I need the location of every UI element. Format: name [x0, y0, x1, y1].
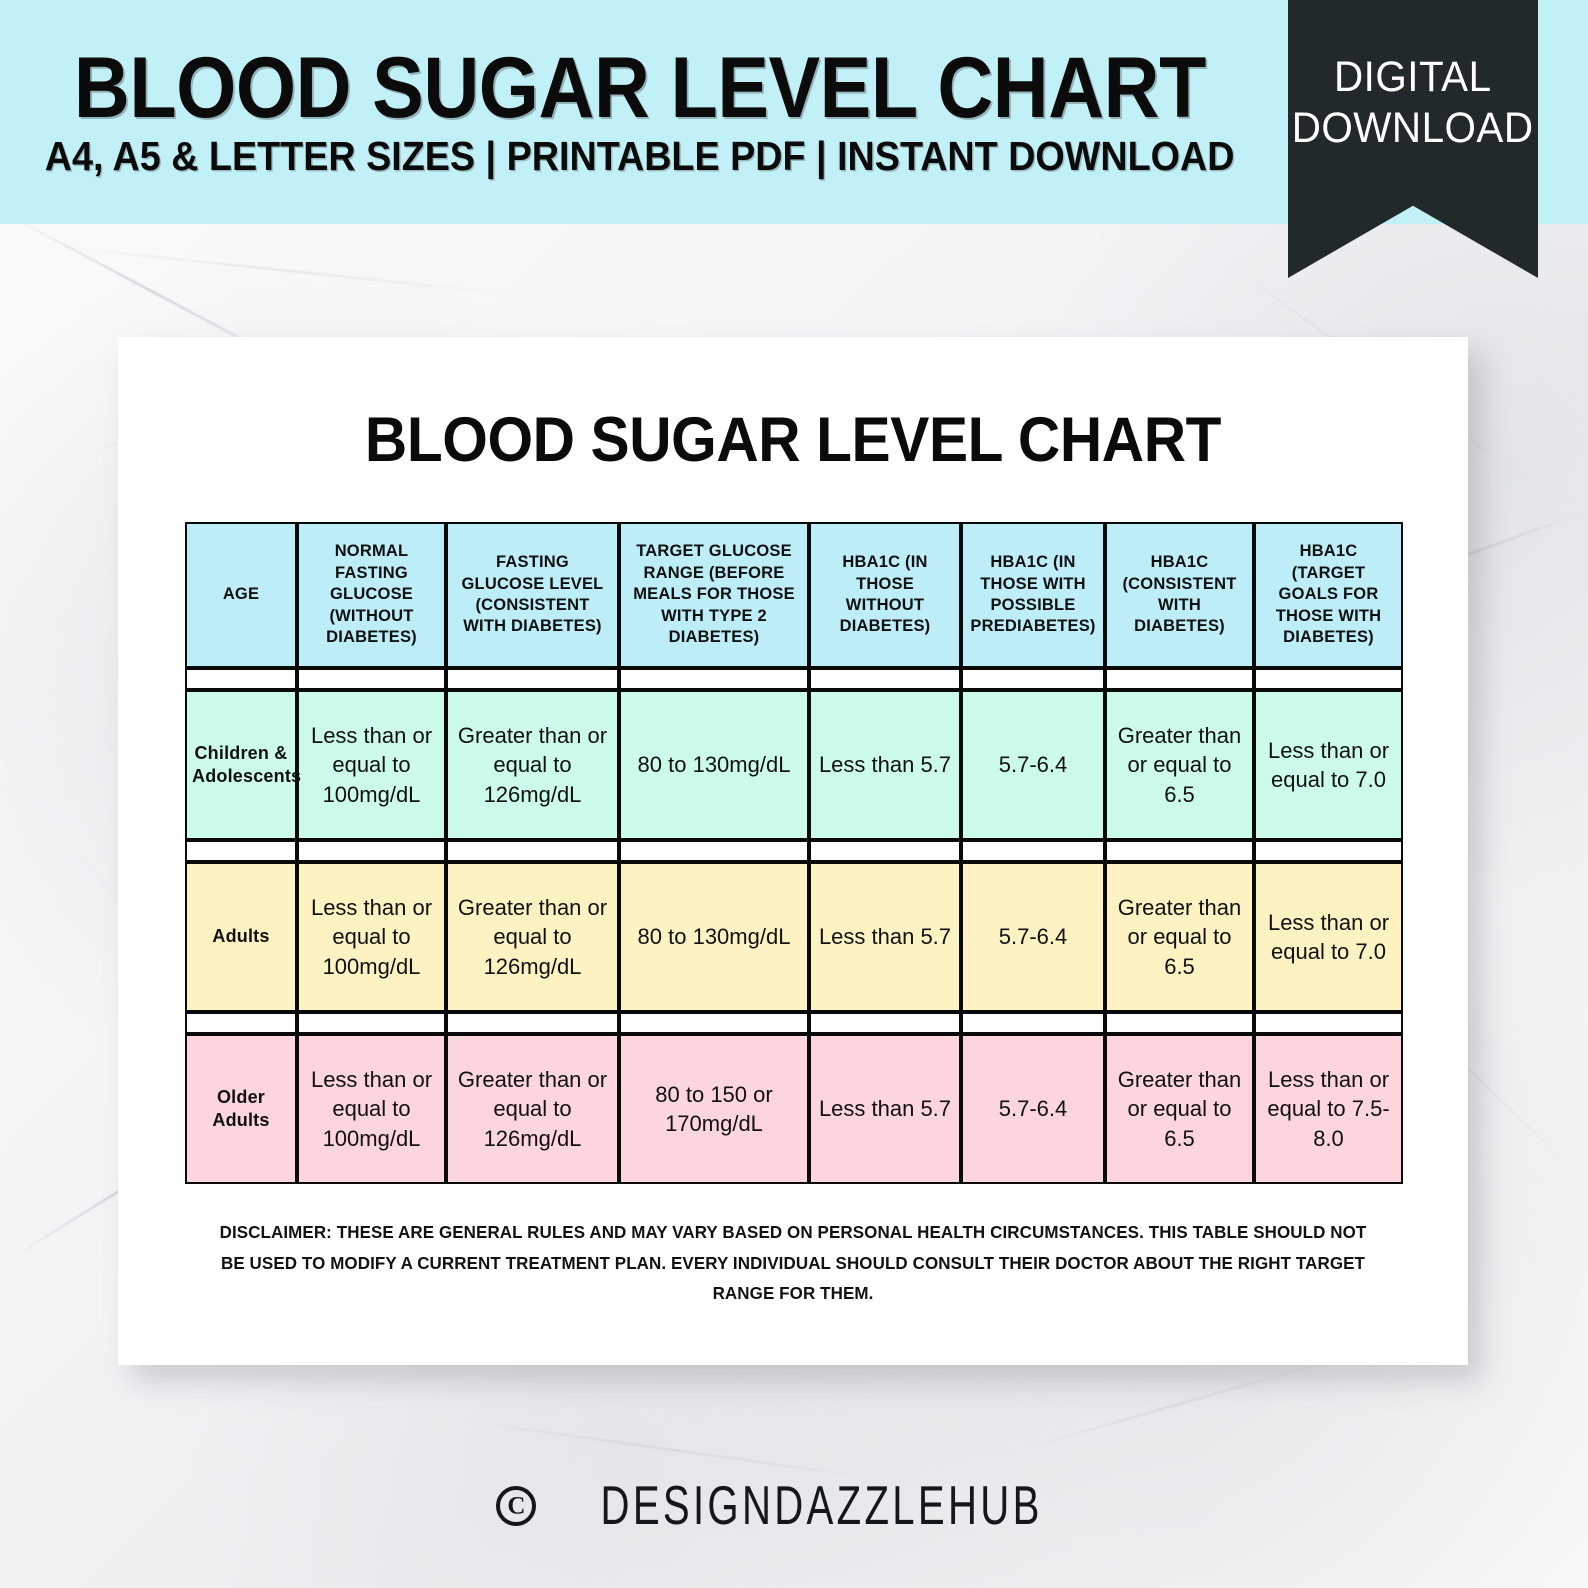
cell-hba1c-without-diabetes: Less than 5.7	[809, 862, 961, 1012]
copyright-icon	[496, 1486, 536, 1526]
spacer-cell	[185, 840, 297, 862]
col-header-hba1c-prediabetes: HBA1C (IN THOSE WITH POSSIBLE PREDIABETE…	[961, 522, 1105, 668]
spacer-cell	[1105, 840, 1254, 862]
col-header-normal-fasting-glucose: NORMAL FASTING GLUCOSE (WITHOUT DIABETES…	[297, 522, 446, 668]
col-header-target-glucose-range: TARGET GLUCOSE RANGE (BEFORE MEALS FOR T…	[619, 522, 809, 668]
spacer-cell	[961, 1012, 1105, 1034]
cell-hba1c-target-goals: Less than or equal to 7.0	[1254, 690, 1403, 840]
table-row: Adults Less than or equal to 100mg/dL Gr…	[185, 862, 1403, 1012]
spacer-cell	[1254, 668, 1403, 690]
col-header-age: AGE	[185, 522, 297, 668]
spacer-cell	[1254, 840, 1403, 862]
blood-sugar-table: AGE NORMAL FASTING GLUCOSE (WITHOUT DIAB…	[185, 522, 1403, 1184]
spacer-cell	[297, 1012, 446, 1034]
spacer-cell	[619, 1012, 809, 1034]
promo-banner-title: BLOOD SUGAR LEVEL CHART	[74, 47, 1206, 130]
spacer-cell	[961, 840, 1105, 862]
printable-preview-card: BLOOD SUGAR LEVEL CHART AGE NORMAL FASTI…	[118, 337, 1468, 1365]
spacer-cell	[446, 668, 619, 690]
cell-age: Adults	[185, 862, 297, 1012]
cell-target-glucose-range: 80 to 130mg/dL	[619, 690, 809, 840]
cell-fasting-glucose-diabetes: Greater than or equal to 126mg/dL	[446, 862, 619, 1012]
col-header-hba1c-with-diabetes: HBA1C (CONSISTENT WITH DIABETES)	[1105, 522, 1254, 668]
spacer-cell	[809, 668, 961, 690]
cell-target-glucose-range: 80 to 130mg/dL	[619, 862, 809, 1012]
table-header-row: AGE NORMAL FASTING GLUCOSE (WITHOUT DIAB…	[185, 522, 1403, 668]
table-row: Older Adults Less than or equal to 100mg…	[185, 1034, 1403, 1184]
cell-hba1c-target-goals: Less than or equal to 7.0	[1254, 862, 1403, 1012]
col-header-hba1c-target-goals: HBA1C (TARGET GOALS FOR THOSE WITH DIABE…	[1254, 522, 1403, 668]
col-header-fasting-glucose-diabetes: FASTING GLUCOSE LEVEL (CONSISTENT WITH D…	[446, 522, 619, 668]
marble-vein	[31, 243, 548, 299]
table-spacer-row	[185, 668, 1403, 690]
cell-hba1c-prediabetes: 5.7-6.4	[961, 690, 1105, 840]
spacer-cell	[446, 840, 619, 862]
cell-fasting-glucose-diabetes: Greater than or equal to 126mg/dL	[446, 690, 619, 840]
table-body: Children & Adolescents Less than or equa…	[185, 668, 1403, 1184]
spacer-cell	[185, 1012, 297, 1034]
cell-normal-fasting-glucose: Less than or equal to 100mg/dL	[297, 690, 446, 840]
table-spacer-row	[185, 1012, 1403, 1034]
spacer-cell	[1105, 1012, 1254, 1034]
spacer-cell	[809, 840, 961, 862]
blood-sugar-table-wrapper: AGE NORMAL FASTING GLUCOSE (WITHOUT DIAB…	[185, 522, 1383, 1184]
cell-age: Children & Adolescents	[185, 690, 297, 840]
page-title: BLOOD SUGAR LEVEL CHART	[165, 409, 1421, 472]
cell-hba1c-with-diabetes: Greater than or equal to 6.5	[1105, 1034, 1254, 1184]
table-head: AGE NORMAL FASTING GLUCOSE (WITHOUT DIAB…	[185, 522, 1403, 668]
cell-normal-fasting-glucose: Less than or equal to 100mg/dL	[297, 862, 446, 1012]
cell-fasting-glucose-diabetes: Greater than or equal to 126mg/dL	[446, 1034, 619, 1184]
cell-hba1c-with-diabetes: Greater than or equal to 6.5	[1105, 862, 1254, 1012]
spacer-cell	[619, 668, 809, 690]
cell-hba1c-without-diabetes: Less than 5.7	[809, 1034, 961, 1184]
cell-normal-fasting-glucose: Less than or equal to 100mg/dL	[297, 1034, 446, 1184]
footer-brand: DESIGNDAZZLEHUB	[0, 1478, 1588, 1534]
ribbon-line-digital: DIGITAL	[1334, 52, 1492, 103]
cell-hba1c-prediabetes: 5.7-6.4	[961, 1034, 1105, 1184]
spacer-cell	[809, 1012, 961, 1034]
col-header-hba1c-without-diabetes: HBA1C (IN THOSE WITHOUT DIABETES)	[809, 522, 961, 668]
cell-target-glucose-range: 80 to 150 or 170mg/dL	[619, 1034, 809, 1184]
spacer-cell	[297, 840, 446, 862]
digital-download-ribbon: DIGITAL DOWNLOAD	[1288, 0, 1538, 278]
cell-hba1c-prediabetes: 5.7-6.4	[961, 862, 1105, 1012]
cell-hba1c-without-diabetes: Less than 5.7	[809, 690, 961, 840]
spacer-cell	[185, 668, 297, 690]
cell-hba1c-target-goals: Less than or equal to 7.5-8.0	[1254, 1034, 1403, 1184]
cell-hba1c-with-diabetes: Greater than or equal to 6.5	[1105, 690, 1254, 840]
spacer-cell	[1105, 668, 1254, 690]
table-spacer-row	[185, 840, 1403, 862]
brand-name: DESIGNDAZZLEHUB	[601, 1475, 1043, 1538]
spacer-cell	[446, 1012, 619, 1034]
spacer-cell	[1254, 1012, 1403, 1034]
spacer-cell	[961, 668, 1105, 690]
spacer-cell	[297, 668, 446, 690]
spacer-cell	[619, 840, 809, 862]
promo-banner-subtitle: A4, A5 & LETTER SIZES | PRINTABLE PDF | …	[45, 136, 1235, 177]
ribbon-line-download: DOWNLOAD	[1292, 103, 1534, 154]
disclaimer-text: DISCLAIMER: THESE ARE GENERAL RULES AND …	[216, 1217, 1370, 1309]
table-row: Children & Adolescents Less than or equa…	[185, 690, 1403, 840]
cell-age: Older Adults	[185, 1034, 297, 1184]
listing-image: BLOOD SUGAR LEVEL CHART A4, A5 & LETTER …	[0, 0, 1588, 1588]
promo-banner-text-group: BLOOD SUGAR LEVEL CHART A4, A5 & LETTER …	[0, 0, 1280, 224]
